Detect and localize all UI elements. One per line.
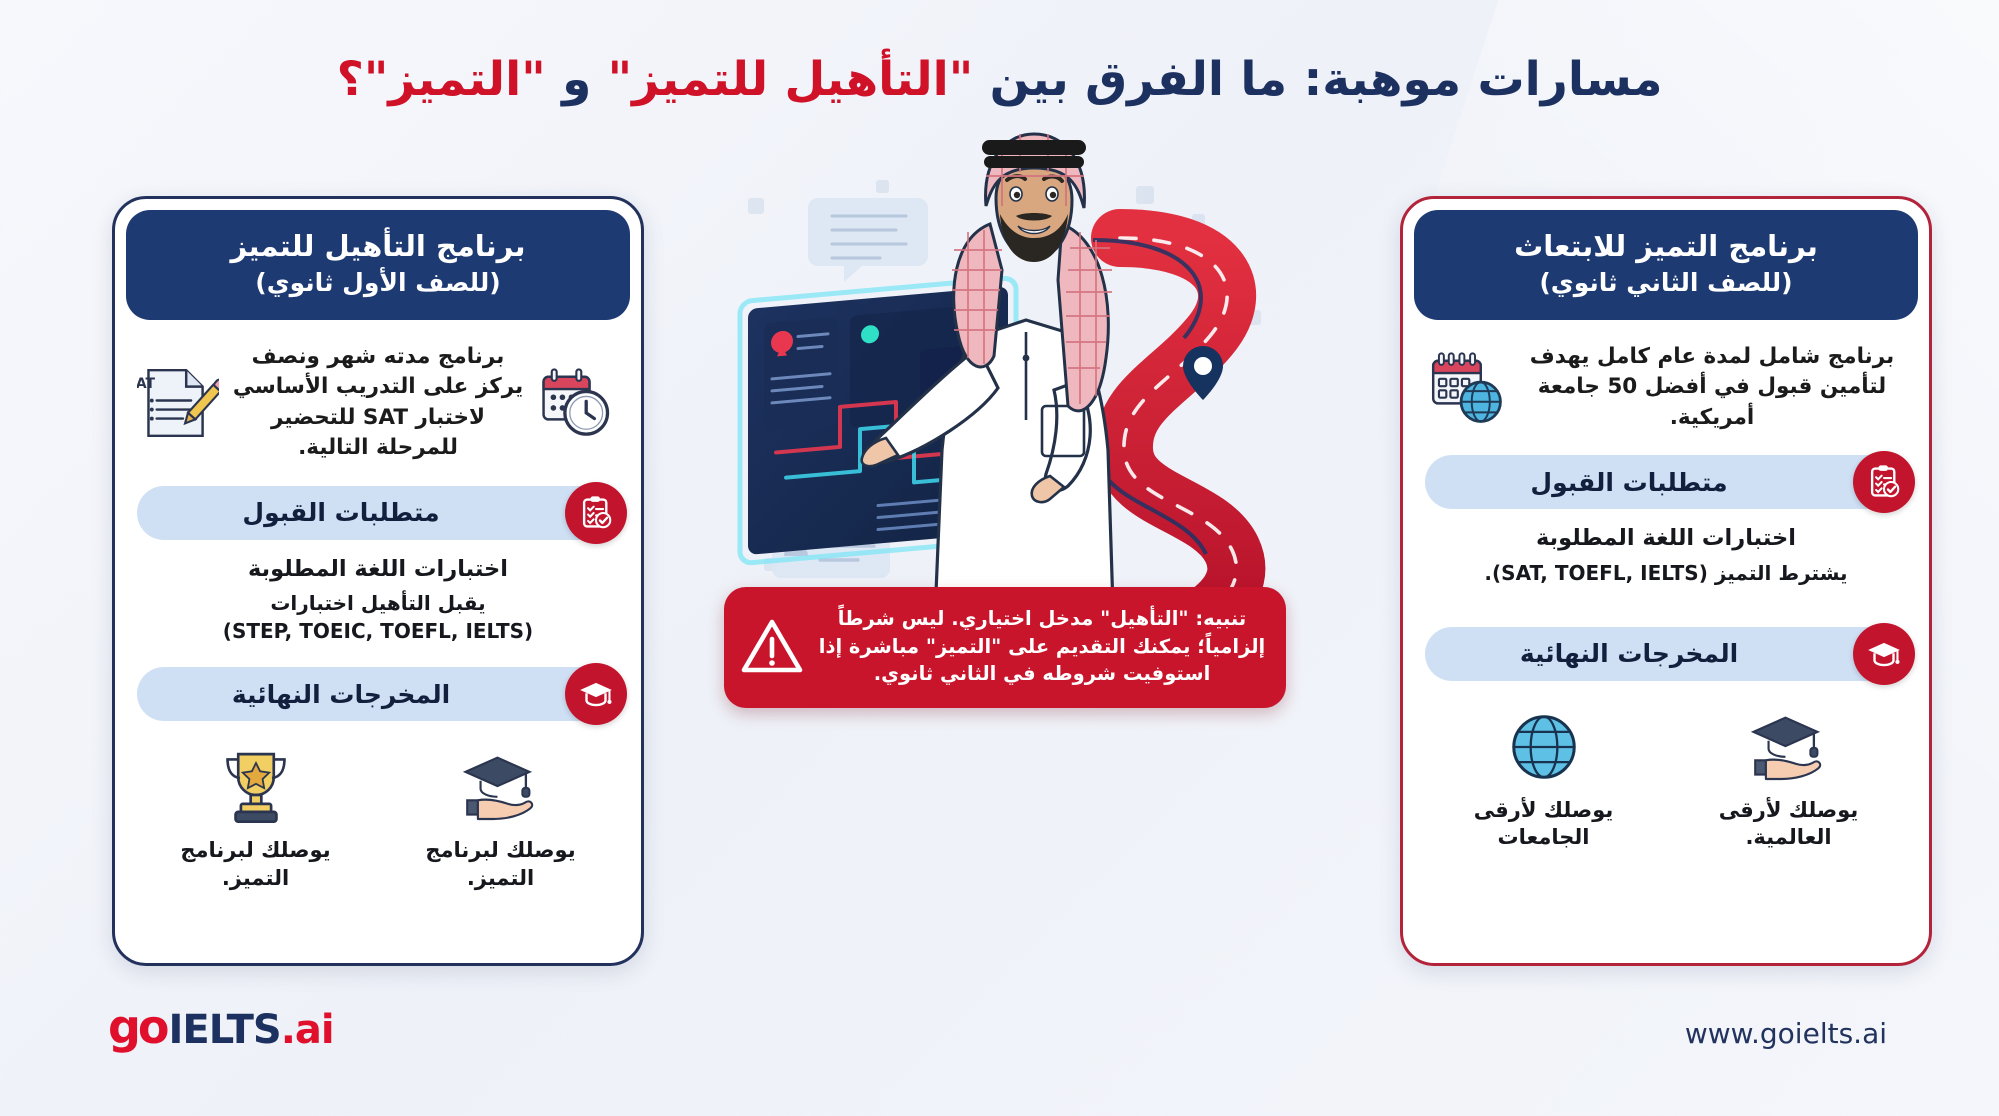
card-excellence-scholarship-program: برنامج التميز للابتعاث (للصف الثاني ثانو… <box>1400 196 1932 966</box>
graduation-cap-icon <box>1853 623 1915 685</box>
warning-banner: تنبيه: "التأهيل" مدخل اختياري. ليس شرطاً… <box>724 587 1286 708</box>
right-card-header: برنامج التميز للابتعاث (للصف الثاني ثانو… <box>1414 210 1918 320</box>
right-outcome-1: يوصلك لأرقى العالمية. <box>1694 707 1884 852</box>
graduation-cap-icon <box>565 663 627 725</box>
calendar-clock-icon <box>537 362 619 444</box>
left-card-intro-row: برنامج مدته شهر ونصف يركز على التدريب ال… <box>115 320 641 470</box>
right-card-title: برنامج التميز للابتعاث <box>1428 229 1904 264</box>
right-section-final-outcomes[interactable]: المخرجات النهائية <box>1425 627 1907 681</box>
card-qualification-program: برنامج التأهيل للتميز (للصف الأول ثانوي)… <box>112 196 644 966</box>
logo-ielts: IELTS <box>169 1007 281 1053</box>
title-quoted-two: "التميز"؟ <box>337 52 546 107</box>
page-title: مسارات موهبة: ما الفرق بين "التأهيل للتم… <box>0 52 1999 107</box>
left-section-1-line3: (STEP, TOEIC, TOEFL, IELTS) <box>141 617 615 645</box>
sat-paper-pencil-icon: SAT <box>137 362 219 444</box>
right-outcome-2: يوصلك لأرقى الجامعات <box>1449 707 1639 852</box>
right-card-subtitle: (للصف الثاني ثانوي) <box>1428 267 1904 298</box>
left-card-intro-text: برنامج مدته شهر ونصف يركز على التدريب ال… <box>229 342 527 464</box>
right-section-admission-requirements[interactable]: متطلبات القبول <box>1425 455 1907 509</box>
goielts-logo[interactable]: go IELTS .ai <box>108 1000 334 1054</box>
right-section-1-label: متطلبات القبول <box>1425 468 1841 497</box>
left-section-final-outcomes[interactable]: المخرجات النهائية <box>137 667 619 721</box>
calendar-globe-icon <box>1425 346 1507 428</box>
left-card-header: برنامج التأهيل للتميز (للصف الأول ثانوي) <box>126 210 630 320</box>
title-quoted-one: "التأهيل للتميز" <box>608 52 974 107</box>
logo-ai: .ai <box>281 1007 334 1053</box>
left-section-1-label: متطلبات القبول <box>137 498 553 527</box>
left-section-2-label: المخرجات النهائية <box>137 680 553 709</box>
left-section-1-line1: اختبارات اللغة المطلوبة <box>141 554 615 586</box>
left-section-admission-requirements[interactable]: متطلبات القبول <box>137 486 619 540</box>
title-lead: مسارات موهبة: ما الفرق بين <box>990 52 1663 107</box>
clipboard-check-icon <box>565 482 627 544</box>
left-outcome-1-label: يوصلك لبرنامج التميز. <box>406 837 596 892</box>
right-outcomes: يوصلك لأرقى العالمية. يوصلك لأرقى الجامع… <box>1403 681 1929 852</box>
warning-triangle-icon <box>740 615 804 679</box>
saudi-man-hologram-roadmap-illustration <box>690 120 1330 640</box>
warning-text: تنبيه: "التأهيل" مدخل اختياري. ليس شرطاً… <box>818 605 1266 688</box>
left-section-1-line2: يقبل التأهيل اختبارات <box>141 589 615 617</box>
right-outcome-2-label: يوصلك لأرقى الجامعات <box>1449 797 1639 852</box>
left-section-1-body: اختبارات اللغة المطلوبة يقبل التأهيل اخت… <box>115 540 641 646</box>
right-section-1-line2: يشترط التميز (SAT, TOEFL, IELTS). <box>1429 559 1903 587</box>
right-section-2-label: المخرجات النهائية <box>1425 639 1841 668</box>
svg-text:SAT: SAT <box>137 376 156 392</box>
logo-go: go <box>108 1000 167 1054</box>
trophy-icon <box>210 747 302 827</box>
left-card-title: برنامج التأهيل للتميز <box>140 229 616 264</box>
right-section-1-line1: اختبارات اللغة المطلوبة <box>1429 523 1903 555</box>
right-section-1-body: اختبارات اللغة المطلوبة يشترط التميز (SA… <box>1403 509 1929 587</box>
left-outcome-2-label: يوصلك لبرنامج التميز. <box>161 837 351 892</box>
right-card-intro-text: برنامج شامل لمدة عام كامل يهدف لتأمين قب… <box>1517 342 1907 434</box>
clipboard-check-icon <box>1853 451 1915 513</box>
left-outcomes: يوصلك لبرنامج التميز. يوصلك لبرنامج التم… <box>115 721 641 892</box>
left-card-subtitle: (للصف الأول ثانوي) <box>140 267 616 298</box>
footer-website-url[interactable]: www.goielts.ai <box>1685 1017 1887 1050</box>
hand-graduation-cap-icon <box>1743 707 1835 787</box>
right-card-intro-row: برنامج شامل لمدة عام كامل يهدف لتأمين قب… <box>1403 320 1929 440</box>
title-joiner: و <box>562 52 591 107</box>
globe-icon <box>1498 707 1590 787</box>
left-outcome-2: يوصلك لبرنامج التميز. <box>161 747 351 892</box>
left-outcome-1: يوصلك لبرنامج التميز. <box>406 747 596 892</box>
right-outcome-1-label: يوصلك لأرقى العالمية. <box>1694 797 1884 852</box>
hand-graduation-cap-icon <box>455 747 547 827</box>
